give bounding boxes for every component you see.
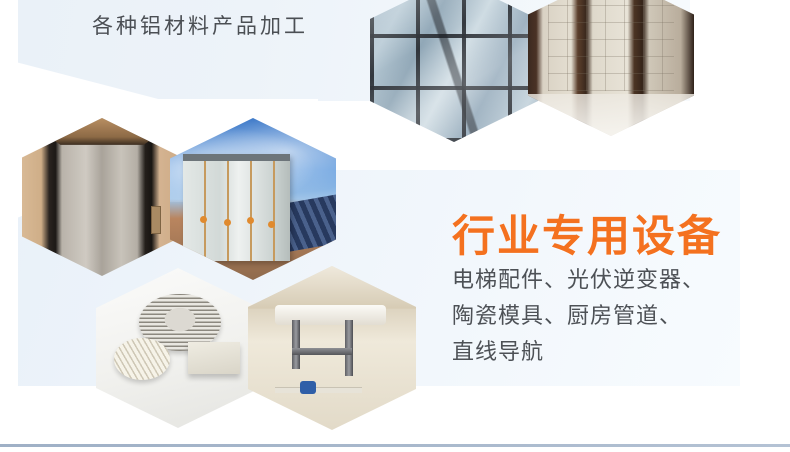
cabinet-door-seams	[183, 161, 289, 261]
inverter-cabinet	[183, 154, 289, 261]
photo-glass-curtain-wall	[370, 0, 538, 142]
product-line-3: 直线导航	[452, 334, 705, 370]
water-meter	[300, 381, 316, 394]
photo-decorative-glass-door	[528, 0, 694, 136]
glass-door-etching	[548, 0, 674, 91]
drain-crossover-pipe	[292, 348, 352, 355]
product-line-1: 电梯配件、光伏逆变器、	[452, 262, 705, 298]
curtain-wall-glass-sheen	[370, 0, 538, 142]
cabinet-handle-2	[224, 219, 231, 226]
ceramic-disc-small	[114, 338, 170, 380]
bottom-divider	[0, 444, 790, 447]
cabinet-handle-3	[247, 217, 254, 224]
promo-banner: 各种铝材料产品加工 行业专用设备 电梯配件、光伏逆变器、 陶瓷模具、厨房管道、 …	[0, 0, 790, 452]
drain-pipe-left	[292, 320, 300, 369]
page-title: 行业专用设备	[452, 202, 722, 264]
ceramic-brick	[188, 342, 240, 374]
glass-door-floor	[528, 94, 694, 136]
top-heading: 各种铝材料产品加工	[92, 10, 308, 40]
product-category-list: 电梯配件、光伏逆变器、 陶瓷模具、厨房管道、 直线导航	[452, 262, 705, 370]
elevator-call-button-panel	[151, 206, 161, 234]
supply-pipe	[275, 387, 362, 393]
product-line-2: 陶瓷模具、厨房管道、	[452, 298, 705, 334]
